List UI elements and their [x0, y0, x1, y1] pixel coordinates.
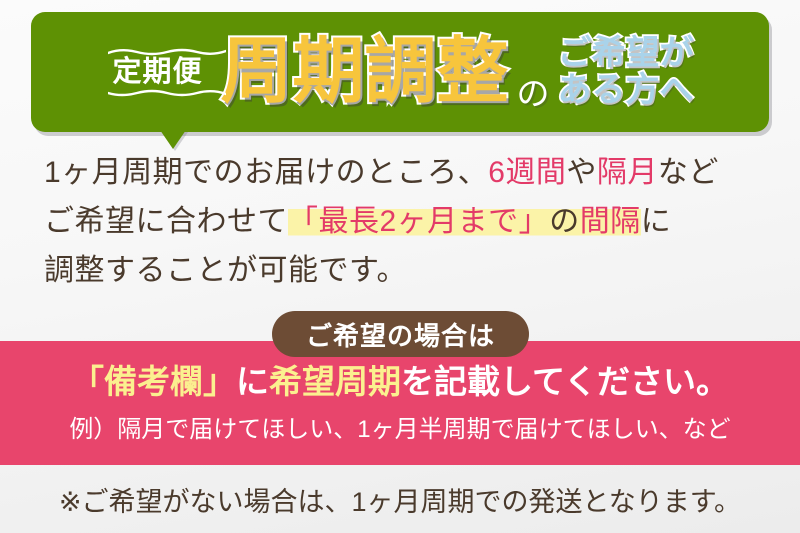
header-subtitle-line-2: ある方へ	[558, 72, 694, 109]
footer-note: ※ご希望がない場合は、1ヶ月周期での発送となります。	[0, 480, 800, 519]
body-line-1: 1ヶ月周期でのお届けのところ、6週間や隔月など	[0, 148, 800, 197]
subscription-badge-label: 定期便	[112, 58, 202, 87]
body-line-2-highlight-2: 間隔	[580, 205, 641, 238]
pink-main-particle: に	[236, 363, 269, 400]
body-line-2-part-e: に	[641, 205, 672, 238]
body-line-2-part-a: ご希望に合わせて	[44, 205, 288, 238]
body-line-2-part-c: の	[549, 205, 580, 238]
pink-example-text: 例）隔月で届けてほしい、1ヶ月半周期で届けてほしい、など	[0, 417, 800, 443]
request-case-pill: ご希望の場合は	[272, 311, 529, 357]
body-line-2-highlight-1: 「最長2ヶ月まで」	[288, 205, 549, 238]
body-line-2: ご希望に合わせて「最長2ヶ月まで」の間隔に	[0, 197, 800, 246]
promo-banner: 定期便 周期調整 の ご希望が ある方へ 1ヶ月周期でのお届けのところ、6週間や…	[0, 0, 800, 533]
header-subtitle: ご希望が ある方へ	[558, 35, 694, 108]
wave-line-top-icon	[108, 48, 226, 56]
header-particle: の	[517, 77, 550, 132]
body-line-1-emphasis-1: 6週間	[488, 156, 566, 189]
body-paragraph: 1ヶ月周期でのお届けのところ、6週間や隔月など ご希望に合わせて「最長2ヶ月まで…	[0, 148, 800, 295]
pink-main-message: 「備考欄」に希望周期を記載してください。	[0, 364, 800, 400]
body-line-3: 調整することが可能です。	[0, 246, 800, 295]
pink-main-keyword: 希望周期	[269, 363, 401, 400]
body-line-1-part-e: など	[658, 156, 719, 189]
pink-instruction-band: 「備考欄」に希望周期を記載してください。 例）隔月で届けてほしい、1ヶ月半周期で…	[0, 341, 800, 465]
header-subtitle-line-1: ご希望が	[558, 35, 694, 72]
body-line-1-part-c: や	[566, 156, 597, 189]
subscription-badge: 定期便	[108, 49, 206, 96]
pink-main-field-name: 「備考欄」	[71, 363, 236, 400]
pink-main-tail: を記載してください。	[401, 363, 729, 400]
wave-line-bottom-icon	[108, 89, 226, 97]
body-line-1-part-a: 1ヶ月周期でのお届けのところ、	[44, 156, 488, 189]
header-title: 周期調整	[221, 36, 509, 108]
header-section: 定期便 周期調整 の ご希望が ある方へ	[0, 0, 800, 150]
request-case-pill-label: ご希望の場合は	[306, 316, 495, 353]
body-line-1-emphasis-2: 隔月	[597, 156, 658, 189]
header-content: 定期便 周期調整 の ご希望が ある方へ	[31, 12, 769, 132]
speech-bubble-tail	[160, 130, 186, 149]
